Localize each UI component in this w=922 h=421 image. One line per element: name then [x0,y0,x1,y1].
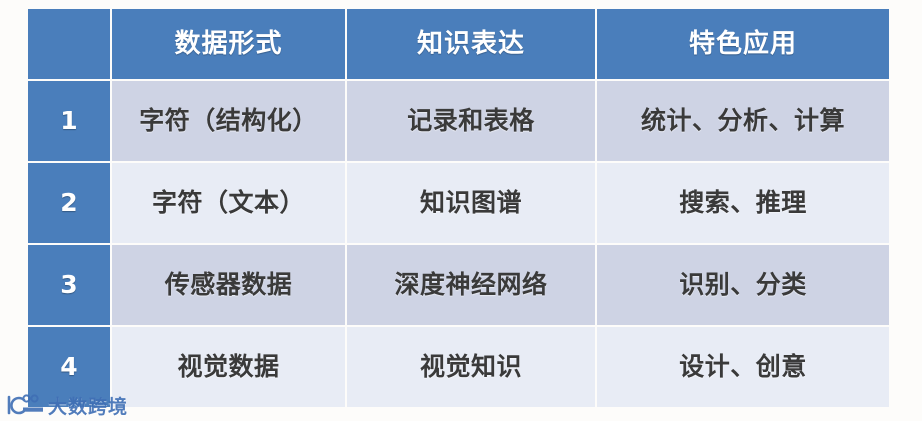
cell-data-form-2: 字符（文本） [112,163,345,243]
table-row: 4 视觉数据 视觉知识 设计、创意 [28,327,889,407]
knowledge-table: 数据形式 知识表达 特色应用 1 字符（结构化） 记录和表格 统计、分析、计算 … [26,7,891,409]
cell-knowledge-1: 记录和表格 [347,81,595,161]
row-index-1: 1 [28,81,110,161]
cell-data-form-1: 字符（结构化） [112,81,345,161]
cell-applications-1: 统计、分析、计算 [597,81,889,161]
header-cell-applications: 特色应用 [597,9,889,79]
cell-data-form-3: 传感器数据 [112,245,345,325]
header-cell-index [28,9,110,79]
table-header-row: 数据形式 知识表达 特色应用 [28,9,889,79]
row-index-4: 4 [28,327,110,407]
header-cell-data-form: 数据形式 [112,9,345,79]
cell-knowledge-2: 知识图谱 [347,163,595,243]
slide-canvas: 数据形式 知识表达 特色应用 1 字符（结构化） 记录和表格 统计、分析、计算 … [0,0,922,420]
row-index-3: 3 [28,245,110,325]
header-cell-knowledge-representation: 知识表达 [347,9,595,79]
cell-applications-3: 识别、分类 [597,245,889,325]
cell-applications-4: 设计、创意 [597,327,889,407]
table-row: 2 字符（文本） 知识图谱 搜索、推理 [28,163,889,243]
table-row: 1 字符（结构化） 记录和表格 统计、分析、计算 [28,81,889,161]
cell-knowledge-4: 视觉知识 [347,327,595,407]
table-row: 3 传感器数据 深度神经网络 识别、分类 [28,245,889,325]
cell-data-form-4: 视觉数据 [112,327,345,407]
row-index-2: 2 [28,163,110,243]
knowledge-table-container: 数据形式 知识表达 特色应用 1 字符（结构化） 记录和表格 统计、分析、计算 … [26,7,887,411]
cell-applications-2: 搜索、推理 [597,163,889,243]
cell-knowledge-3: 深度神经网络 [347,245,595,325]
